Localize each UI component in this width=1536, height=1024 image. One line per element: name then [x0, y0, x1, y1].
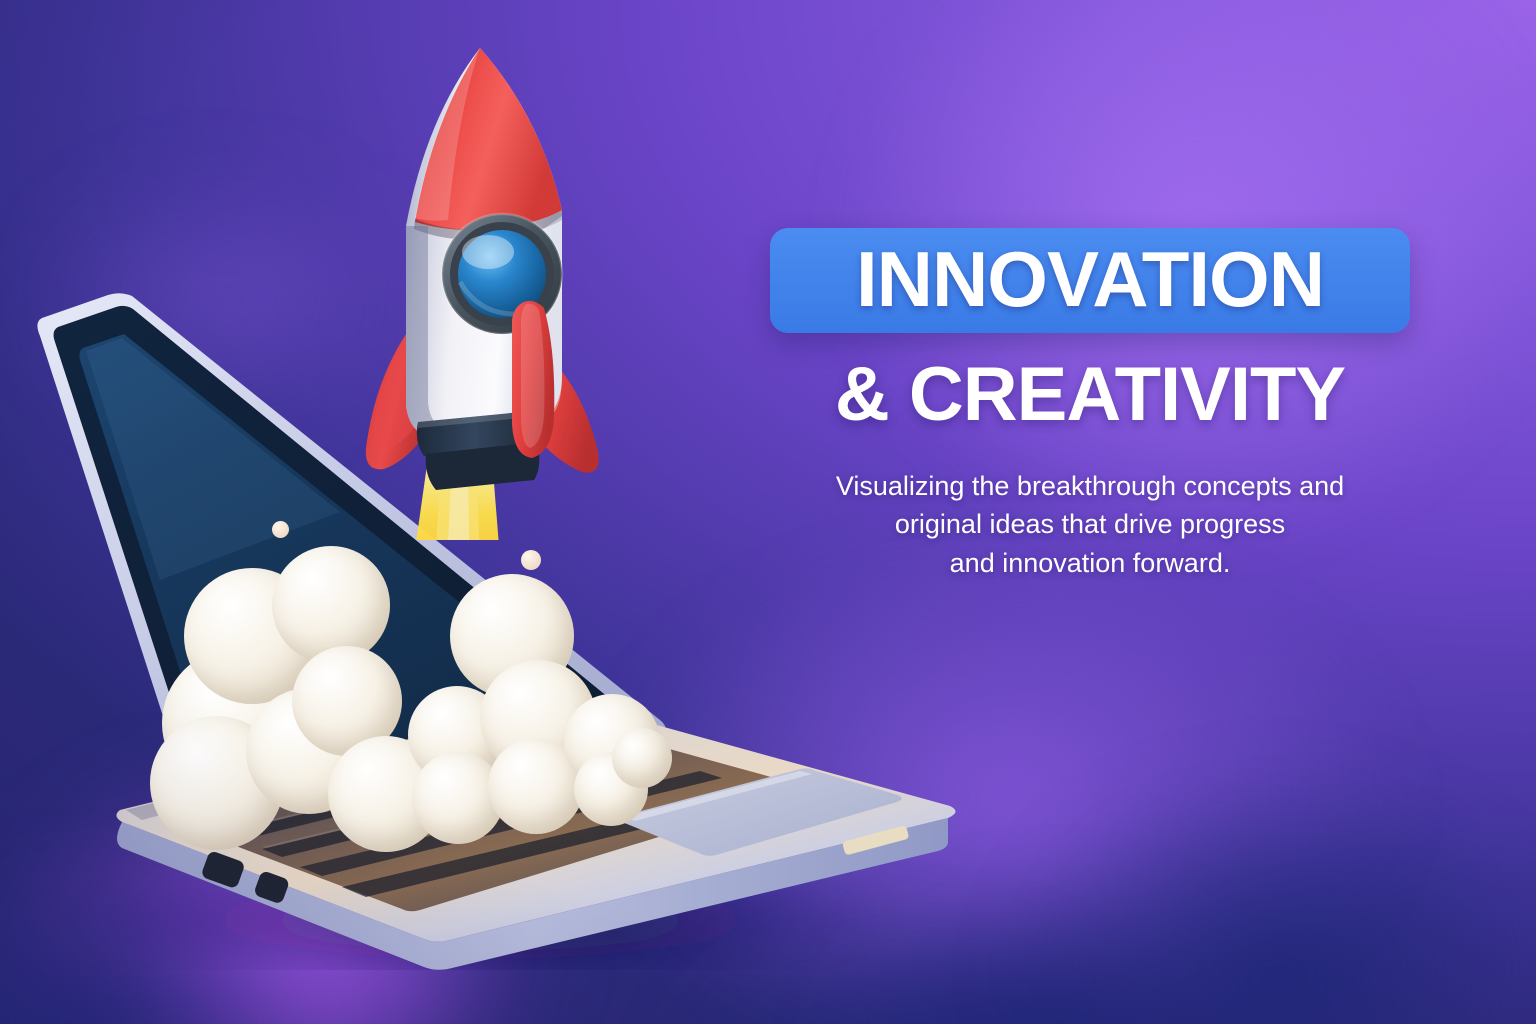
headline-secondary: & CREATIVITY: [770, 357, 1410, 433]
subtitle-line-3: and innovation forward.: [775, 544, 1405, 582]
exhaust-smoke: [150, 520, 710, 870]
innovation-badge[interactable]: INNOVATION: [770, 228, 1410, 333]
subtitle: Visualizing the breakthrough concepts an…: [775, 467, 1405, 582]
subtitle-line-1: Visualizing the breakthrough concepts an…: [775, 467, 1405, 505]
subtitle-line-2: original ideas that drive progress: [775, 505, 1405, 543]
smoke-puff: [272, 546, 390, 664]
hero-banner: INNOVATION & CREATIVITY Visualizing the …: [0, 0, 1536, 1024]
hero-text-block: INNOVATION & CREATIVITY Visualizing the …: [770, 228, 1410, 582]
smoke-puff: [612, 728, 672, 788]
badge-label: INNOVATION: [796, 242, 1384, 317]
rocket-illustration: [280, 20, 680, 540]
